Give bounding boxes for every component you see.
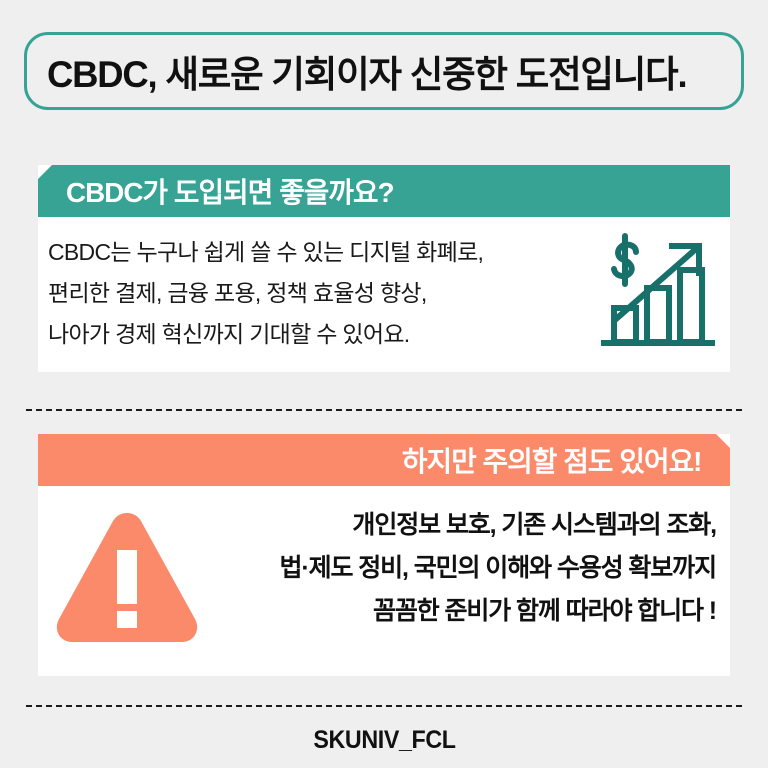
- warning-body-line: 개인정보 보호, 기존 시스템과의 조화,: [156, 504, 716, 547]
- warning-header-label: 하지만 주의할 점도 있어요!: [402, 440, 702, 480]
- footer-brand: SKUNIV_FCL: [313, 726, 455, 755]
- page-title-box: CBDC, 새로운 기회이자 신중한 도전입니다.: [24, 32, 744, 110]
- warning-body-line: 꼼꼼한 준비가 함께 따라야 합니다 !: [156, 590, 716, 633]
- footer-divider: [26, 705, 742, 707]
- benefit-body-line: CBDC는 누구나 쉽게 쓸 수 있는 디지털 화폐로,: [48, 232, 588, 273]
- benefit-body-line: 나아가 경제 혁신까지 기대할 수 있어요.: [48, 314, 588, 355]
- benefit-header-label: CBDC가 도입되면 좋을까요?: [66, 171, 394, 211]
- benefit-body-text: CBDC는 누구나 쉽게 쓸 수 있는 디지털 화폐로, 편리한 결제, 금융 …: [48, 232, 588, 355]
- page-title: CBDC, 새로운 기회이자 신중한 도전입니다.: [47, 44, 686, 98]
- growth-chart-icon: [600, 232, 716, 352]
- warning-body-text: 개인정보 보호, 기존 시스템과의 조화, 법·제도 정비, 국민의 이해와 수…: [156, 504, 716, 633]
- footer: SKUNIV_FCL: [0, 726, 768, 755]
- infographic-page: CBDC, 새로운 기회이자 신중한 도전입니다. CBDC가 도입되면 좋을까…: [0, 0, 768, 768]
- warning-body-line: 법·제도 정비, 국민의 이해와 수용성 확보까지: [156, 547, 716, 590]
- benefit-section-header: CBDC가 도입되면 좋을까요?: [38, 165, 730, 217]
- benefit-body-line: 편리한 결제, 금융 포용, 정책 효율성 향상,: [48, 273, 588, 314]
- warning-section-header: 하지만 주의할 점도 있어요!: [38, 434, 730, 486]
- section-divider: [26, 409, 742, 411]
